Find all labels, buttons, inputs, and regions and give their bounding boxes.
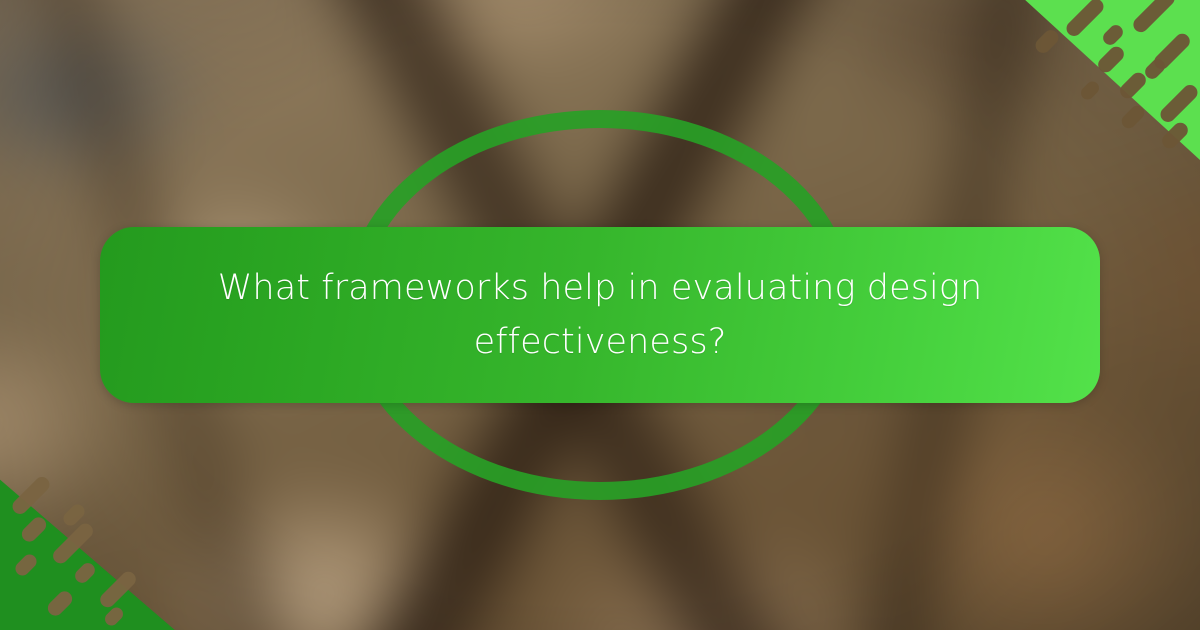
question-text: What frameworks help in evaluating desig…: [210, 261, 990, 370]
question-card-banner: What frameworks help in evaluating desig…: [0, 0, 1200, 630]
question-card: What frameworks help in evaluating desig…: [100, 227, 1100, 403]
